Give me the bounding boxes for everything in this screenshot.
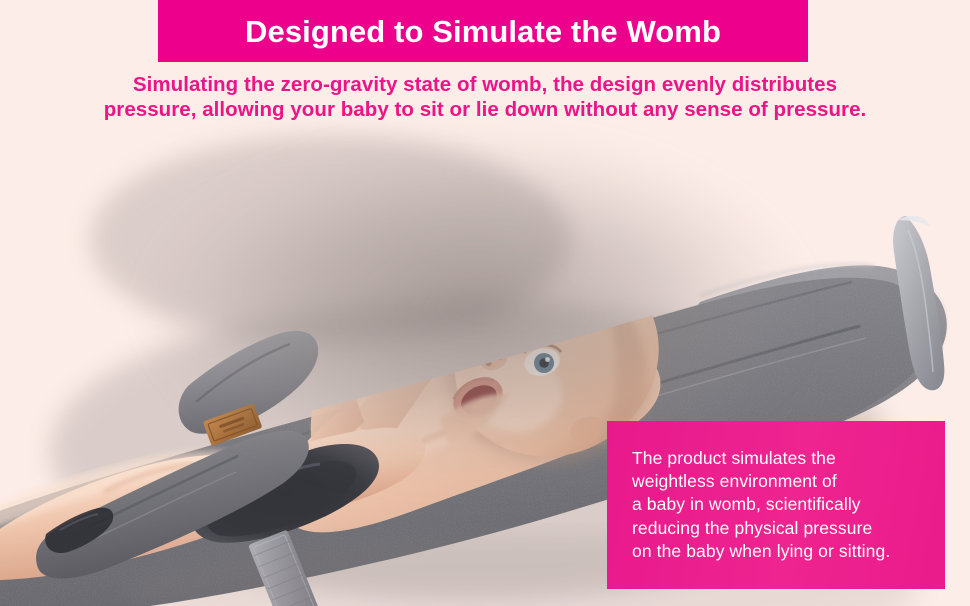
callout-line-2: weightless environment of [632,470,945,493]
marketing-banner: Designed to Simulate the Womb Simulating… [0,0,970,606]
page-title: Designed to Simulate the Womb [245,16,721,47]
callout-line-3: a baby in womb, scientifically [632,493,945,516]
title-banner: Designed to Simulate the Womb [158,0,808,62]
callout-line-1: The product simulates the [632,447,945,470]
subtitle-line-1: Simulating the zero-gravity state of wom… [0,72,970,97]
callout-line-5: on the baby when lying or sitting. [632,540,945,563]
callout-line-4: reducing the physical pressure [632,517,945,540]
feature-callout-box: The product simulates the weightless env… [607,421,945,589]
subtitle-line-2: pressure, allowing your baby to sit or l… [0,97,970,122]
subtitle-block: Simulating the zero-gravity state of wom… [0,72,970,122]
